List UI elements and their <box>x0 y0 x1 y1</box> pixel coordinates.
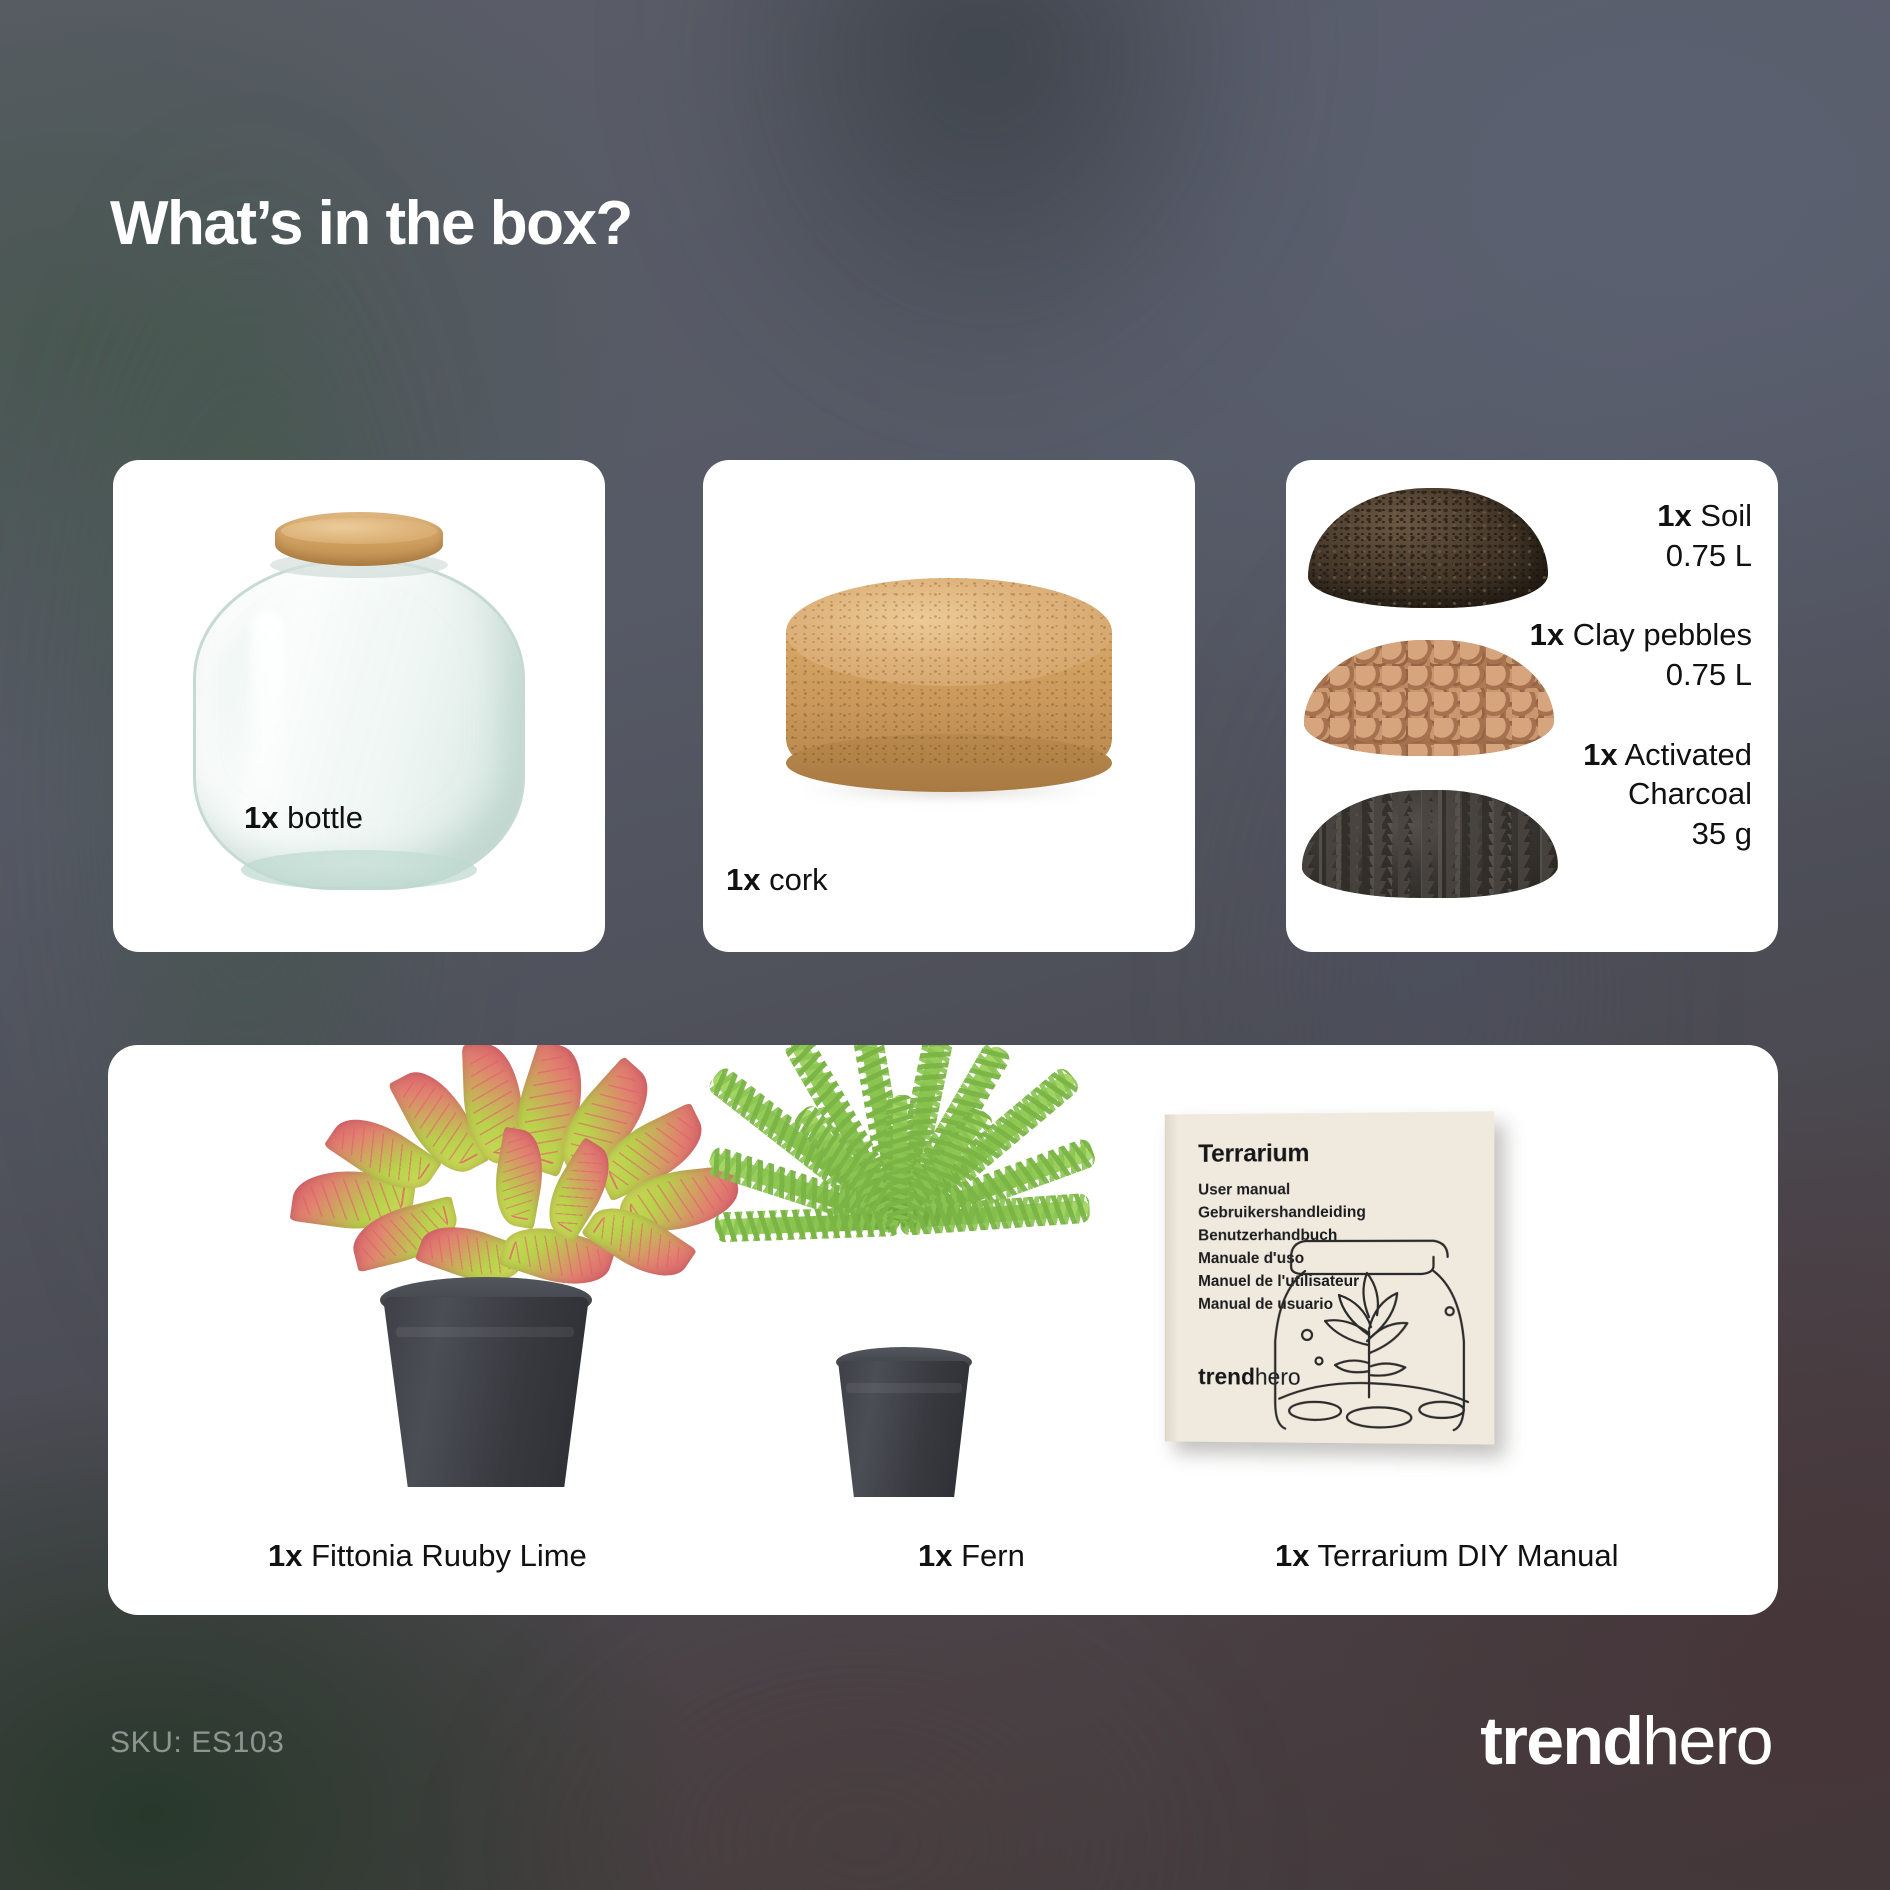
label-manual-name: Terrarium DIY Manual <box>1309 1538 1618 1573</box>
card-bottle <box>113 460 605 952</box>
fern-image <box>678 1045 1138 1485</box>
label-cork-qty: 1x <box>726 862 760 897</box>
label-fern-qty: 1x <box>918 1538 952 1573</box>
booklet-spine <box>1165 1114 1178 1441</box>
fittonia-image <box>228 1065 748 1485</box>
label-fern-name: Fern <box>952 1538 1024 1573</box>
card-growing-media: 1x Soil 0.75 L 1x Clay pebbles 0.75 L 1x… <box>1286 460 1778 952</box>
page-title: What’s in the box? <box>110 188 632 259</box>
label-clay-pebbles: 1x Clay pebbles 0.75 L <box>1502 615 1752 694</box>
label-charcoal-amount: 35 g <box>1502 814 1752 854</box>
fittonia-pot-band <box>396 1327 574 1337</box>
brand-logo: trendhero <box>1480 1702 1772 1780</box>
booklet-logo-bold: trend <box>1198 1363 1255 1389</box>
growing-media-labels: 1x Soil 0.75 L 1x Clay pebbles 0.75 L 1x… <box>1502 496 1752 854</box>
label-soil-name: Soil <box>1692 498 1752 533</box>
sku-text: SKU: ES103 <box>110 1726 284 1760</box>
label-bottle: 1x bottle <box>244 800 363 836</box>
label-clay-pebbles-qty: 1x <box>1530 617 1564 652</box>
label-charcoal: 1x Activated Charcoal 35 g <box>1502 735 1752 854</box>
terrarium-line-art <box>1249 1184 1490 1436</box>
label-fittonia-qty: 1x <box>268 1538 302 1573</box>
brand-logo-bold: trend <box>1480 1703 1642 1779</box>
label-manual: 1x Terrarium DIY Manual <box>1275 1538 1618 1574</box>
manual-booklet-image: Terrarium User manualGebruikershandleidi… <box>1165 1111 1495 1444</box>
booklet-title: Terrarium <box>1198 1139 1309 1169</box>
label-cork: 1x cork <box>726 862 828 898</box>
label-manual-qty: 1x <box>1275 1538 1309 1573</box>
bottle-base <box>241 850 477 890</box>
card-plants-and-manual: Terrarium User manualGebruikershandleidi… <box>108 1045 1778 1615</box>
fern-fronds <box>678 1045 1138 1365</box>
label-bottle-name: bottle <box>278 800 362 835</box>
brand-logo-light: hero <box>1642 1703 1772 1779</box>
label-clay-pebbles-amount: 0.75 L <box>1502 655 1752 695</box>
bottle-glass-body <box>193 560 525 890</box>
label-charcoal-name: Activated Charcoal <box>1618 737 1752 812</box>
label-bottle-qty: 1x <box>244 800 278 835</box>
label-cork-name: cork <box>760 862 827 897</box>
bottle-cork-lid <box>275 512 443 566</box>
label-soil-qty: 1x <box>1657 498 1691 533</box>
fern-pot-band <box>846 1383 962 1393</box>
fittonia-pot <box>383 1297 589 1487</box>
label-fittonia-name: Fittonia Ruuby Lime <box>302 1538 586 1573</box>
label-soil: 1x Soil 0.75 L <box>1502 496 1752 575</box>
label-fittonia: 1x Fittonia Ruuby Lime <box>268 1538 587 1574</box>
cork-disc-image <box>786 632 1112 764</box>
infographic-canvas: What’s in the box? 1x bottle 1x cork 1x … <box>0 0 1890 1890</box>
bottle-highlight <box>251 610 285 800</box>
label-soil-amount: 0.75 L <box>1502 536 1752 576</box>
bottle-image <box>113 460 605 952</box>
label-fern: 1x Fern <box>918 1538 1025 1574</box>
label-clay-pebbles-name: Clay pebbles <box>1564 617 1752 652</box>
label-charcoal-qty: 1x <box>1583 737 1617 772</box>
fern-pot <box>838 1361 970 1497</box>
